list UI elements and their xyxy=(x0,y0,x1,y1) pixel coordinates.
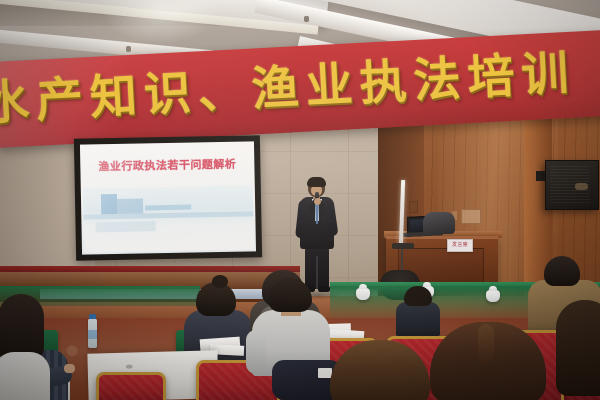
audience-hair-bun xyxy=(212,275,228,288)
chair-red[interactable] xyxy=(96,372,166,400)
teacup xyxy=(356,288,370,300)
lens-glare xyxy=(100,0,220,44)
audience-member xyxy=(430,322,550,400)
audience-member xyxy=(556,300,600,400)
audience-member xyxy=(0,352,50,400)
wall-panel xyxy=(461,209,481,224)
audience-hair xyxy=(404,286,432,306)
screen-glare xyxy=(80,141,256,254)
audience-hair xyxy=(544,256,580,286)
name-card-text: 发言席 xyxy=(448,241,472,248)
sprinkler-icon xyxy=(304,16,309,22)
presenter-hair xyxy=(307,177,326,187)
audience-member xyxy=(248,278,334,400)
projection-screen-frame: 渔业行政执法若干问题解析 xyxy=(74,135,262,261)
bottle-label xyxy=(88,330,97,339)
audience-hand xyxy=(64,364,75,373)
presenter-hand xyxy=(314,198,321,205)
wall-switch-plate[interactable] xyxy=(409,201,418,213)
audience-arm xyxy=(246,330,266,374)
bag xyxy=(423,212,455,234)
audience-hair xyxy=(268,278,312,312)
sprinkler-icon xyxy=(126,46,131,52)
wall-loudspeaker xyxy=(545,160,599,210)
conference-room-photo: 水产知识、渔业执法培训 渔业行政执法若干问题解析 发言席 xyxy=(0,0,600,400)
audience-torso xyxy=(0,352,50,400)
table-grommet xyxy=(126,365,133,369)
audience-member xyxy=(330,340,434,400)
hair-part xyxy=(478,324,494,364)
microphone-base xyxy=(392,243,414,249)
audience-hair xyxy=(556,300,600,396)
name-card: 发言席 xyxy=(447,239,473,252)
teacup xyxy=(486,290,500,302)
bottle-cap xyxy=(89,314,96,319)
audience-hair xyxy=(330,340,430,400)
speaker-logo xyxy=(575,183,588,190)
